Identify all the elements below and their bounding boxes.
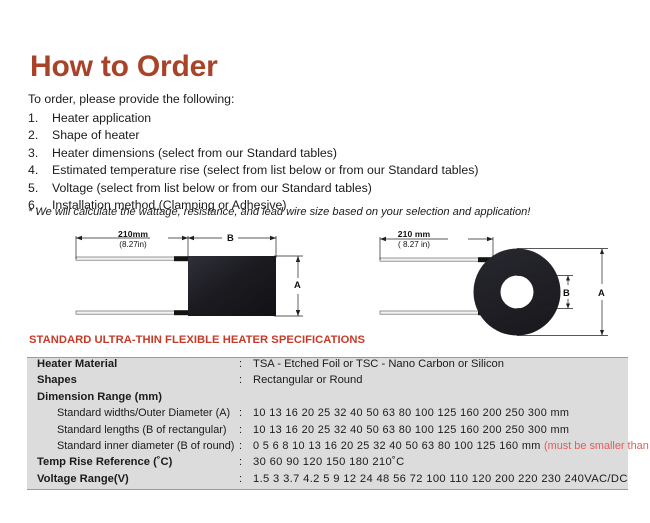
- row-value-numbers: 0 5 6 8 10 13 16 20 25 32 40 50 63 80 10…: [253, 440, 544, 452]
- list-item-number: 4.: [28, 162, 52, 179]
- list-item: 5. Voltage (select from list below or fr…: [28, 180, 628, 197]
- rect-height-letter-a: A: [294, 279, 301, 290]
- list-item: 3. Heater dimensions (select from our St…: [28, 145, 628, 162]
- row-label: Voltage Range(V): [27, 473, 239, 485]
- row-value: 30 60 90 120 150 180 210˚C: [253, 456, 628, 468]
- list-item-label: Shape of heater: [52, 127, 140, 144]
- rectangular-heater-diagram: [0, 228, 330, 338]
- how-to-order-page: How to Order To order, please provide th…: [0, 0, 650, 523]
- row-label: Shapes: [27, 374, 239, 386]
- row-value-numbers: 1.5 3 3.7 4.2 5 9 12 24 48 56 72 100 110…: [253, 473, 628, 485]
- list-item: 1. Heater application: [28, 110, 628, 127]
- row-value-note: (must be smaller than A): [544, 440, 650, 452]
- order-requirements-list: 1. Heater application 2. Shape of heater…: [28, 110, 628, 214]
- table-row: Standard widths/Outer Diameter (A) : 10 …: [27, 407, 628, 423]
- row-value: TSA - Etched Foil or TSC - Nano Carbon o…: [253, 358, 628, 370]
- row-label: Standard inner diameter (B of round): [27, 440, 239, 452]
- list-item-number: 3.: [28, 145, 52, 162]
- table-row: Heater Material : TSA - Etched Foil or T…: [27, 358, 628, 374]
- heater-body-rectangle: [188, 256, 276, 316]
- table-row: Voltage Range(V) : 1.5 3 3.7 4.2 5 9 12 …: [27, 473, 628, 489]
- row-value: 10 13 16 20 25 32 40 50 63 80 100 125 16…: [253, 424, 628, 436]
- row-value: 1.5 3 3.7 4.2 5 9 12 24 48 56 72 100 110…: [253, 473, 628, 485]
- row-label: Standard widths/Outer Diameter (A): [27, 407, 239, 419]
- list-item-label: Voltage (select from list below or from …: [52, 180, 372, 197]
- table-row: Standard lengths (B of rectangular) : 10…: [27, 424, 628, 440]
- list-item-label: Heater application: [52, 110, 151, 127]
- table-row: Temp Rise Reference (˚C) : 30 60 90 120 …: [27, 456, 628, 472]
- table-row: Dimension Range (mm) :: [27, 391, 628, 407]
- round-heater-diagram: [330, 228, 650, 338]
- table-row: Standard inner diameter (B of round) : 0…: [27, 440, 628, 456]
- row-label: Heater Material: [27, 358, 239, 370]
- list-item: 4. Estimated temperature rise (select fr…: [28, 162, 628, 179]
- round-inner-letter-b: B: [563, 287, 570, 298]
- row-label: Standard lengths (B of rectangular): [27, 424, 239, 436]
- rect-lead-length-label: 210mm (8.27in): [106, 230, 160, 249]
- row-label: Dimension Range (mm): [27, 391, 239, 403]
- row-value-numbers: 30 60 90 120 150 180 210˚C: [253, 456, 405, 468]
- spec-section-title: STANDARD ULTRA-THIN FLEXIBLE HEATER SPEC…: [29, 334, 365, 346]
- row-value: Rectangular or Round: [253, 374, 628, 386]
- row-label: Temp Rise Reference (˚C): [27, 456, 239, 468]
- list-item-number: 5.: [28, 180, 52, 197]
- intro-text: To order, please provide the following:: [28, 92, 234, 107]
- table-row: Shapes : Rectangular or Round: [27, 374, 628, 390]
- row-colon: :: [239, 440, 253, 452]
- rect-width-letter-b: B: [227, 232, 234, 243]
- list-item-label: Heater dimensions (select from our Stand…: [52, 145, 337, 162]
- row-colon: :: [239, 456, 253, 468]
- footnote-text: * We will calculate the wattage, resista…: [28, 205, 530, 219]
- row-colon: :: [239, 358, 253, 370]
- row-colon: :: [239, 473, 253, 485]
- list-item-label: Estimated temperature rise (select from …: [52, 162, 478, 179]
- row-value: 10 13 16 20 25 32 40 50 63 80 100 125 16…: [253, 407, 628, 419]
- list-item-number: 1.: [28, 110, 52, 127]
- lead-wires: [76, 256, 190, 315]
- spec-table: Heater Material : TSA - Etched Foil or T…: [27, 357, 628, 490]
- list-item: 2. Shape of heater: [28, 127, 628, 144]
- row-value-numbers: 10 13 16 20 25 32 40 50 63 80 100 125 16…: [253, 407, 569, 419]
- round-outer-letter-a: A: [598, 287, 605, 298]
- round-lead-length-label: 210 mm ( 8.27 in): [385, 230, 443, 249]
- heater-diagrams: 210mm (8.27in) B A: [0, 228, 650, 338]
- page-title: How to Order: [30, 50, 218, 84]
- list-item-number: 2.: [28, 127, 52, 144]
- row-value-numbers: 10 13 16 20 25 32 40 50 63 80 100 125 16…: [253, 424, 569, 436]
- row-colon: :: [239, 424, 253, 436]
- row-value: 0 5 6 8 10 13 16 20 25 32 40 50 63 80 10…: [253, 440, 650, 452]
- row-colon: :: [239, 374, 253, 386]
- row-colon: :: [239, 407, 253, 419]
